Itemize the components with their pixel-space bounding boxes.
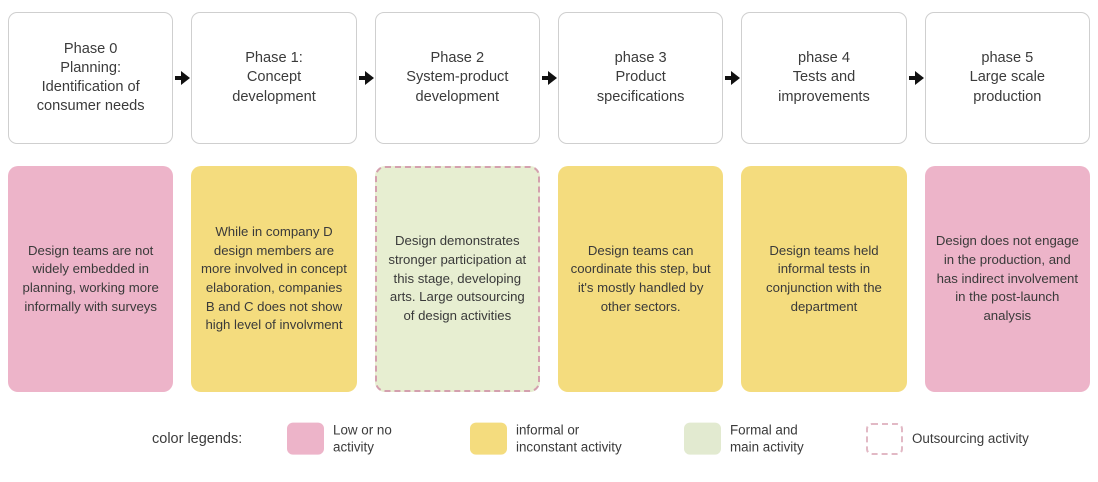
- phase-box-label-3: phase 3 Product specifications: [597, 49, 685, 107]
- phase-cell-4: phase 4 Tests and improvements: [741, 12, 924, 144]
- phase-box-label-2: Phase 2 System-product development: [406, 49, 508, 107]
- diagram-canvas: Phase 0 Planning: Identification of cons…: [0, 0, 1098, 482]
- card-cell-1: While in company D design members are mo…: [191, 166, 374, 392]
- phase-box-label-0: Phase 0 Planning: Identification of cons…: [37, 40, 145, 117]
- legend-label-0: Low or no activity: [333, 422, 392, 457]
- activity-card-text-5: Design does not engage in the production…: [934, 232, 1081, 326]
- legend-dashed-swatch-icon-3: [866, 423, 903, 455]
- legend-swatch-icon-1: [470, 423, 507, 455]
- legend-swatch-icon-0: [287, 423, 324, 455]
- phase-cell-0: Phase 0 Planning: Identification of cons…: [8, 12, 191, 144]
- activity-card-1[interactable]: While in company D design members are mo…: [191, 166, 356, 392]
- arrow-head: [915, 71, 924, 85]
- arrow-head: [548, 71, 557, 85]
- activity-card-text-2: Design demonstrates stronger participati…: [386, 232, 529, 326]
- activity-card-text-3: Design teams can coordinate this step, b…: [567, 242, 714, 317]
- phase-cell-5: phase 5 Large scale production: [925, 12, 1090, 144]
- legend-title: color legends:: [152, 431, 242, 447]
- activity-card-3[interactable]: Design teams can coordinate this step, b…: [558, 166, 723, 392]
- phase-box-3[interactable]: phase 3 Product specifications: [558, 12, 723, 144]
- legend-item-outsourcing-activity: Outsourcing activity: [866, 423, 1029, 455]
- card-cell-2: Design demonstrates stronger participati…: [375, 166, 558, 392]
- arrow-right-icon-0: [175, 71, 190, 85]
- arrow-head: [181, 71, 190, 85]
- phase-box-label-5: phase 5 Large scale production: [970, 49, 1045, 107]
- card-cell-0: Design teams are not widely embedded in …: [8, 166, 191, 392]
- phase-box-2[interactable]: Phase 2 System-product development: [375, 12, 540, 144]
- arrow-head: [731, 71, 740, 85]
- arrow-right-icon-3: [725, 71, 740, 85]
- activity-card-text-1: While in company D design members are mo…: [200, 223, 347, 335]
- activity-card-0[interactable]: Design teams are not widely embedded in …: [8, 166, 173, 392]
- legend-label-1: informal or inconstant activity: [516, 422, 622, 457]
- card-cell-3: Design teams can coordinate this step, b…: [558, 166, 741, 392]
- arrow-head: [365, 71, 374, 85]
- legend-swatch-icon-2: [684, 423, 721, 455]
- arrow-right-icon-2: [542, 71, 557, 85]
- phase-box-4[interactable]: phase 4 Tests and improvements: [741, 12, 906, 144]
- activity-card-4[interactable]: Design teams held informal tests in conj…: [741, 166, 906, 392]
- phase-box-1[interactable]: Phase 1: Concept development: [191, 12, 356, 144]
- phase-cell-3: phase 3 Product specifications: [558, 12, 741, 144]
- card-cell-4: Design teams held informal tests in conj…: [741, 166, 924, 392]
- activity-card-5[interactable]: Design does not engage in the production…: [925, 166, 1090, 392]
- phase-box-5[interactable]: phase 5 Large scale production: [925, 12, 1090, 144]
- phase-cell-2: Phase 2 System-product development: [375, 12, 558, 144]
- legend-item-informal-activity: informal or inconstant activity: [470, 422, 622, 457]
- phase-row: Phase 0 Planning: Identification of cons…: [8, 12, 1090, 144]
- legend-item-formal-activity: Formal and main activity: [684, 422, 804, 457]
- legend-label-3: Outsourcing activity: [912, 430, 1029, 447]
- card-cell-5: Design does not engage in the production…: [925, 166, 1090, 392]
- phase-box-label-1: Phase 1: Concept development: [232, 49, 316, 107]
- activity-cards-row: Design teams are not widely embedded in …: [8, 166, 1090, 392]
- activity-card-2[interactable]: Design demonstrates stronger participati…: [375, 166, 540, 392]
- color-legend: color legends: Low or no activity inform…: [0, 404, 1098, 474]
- activity-card-text-4: Design teams held informal tests in conj…: [750, 242, 897, 317]
- phase-box-label-4: phase 4 Tests and improvements: [778, 49, 870, 107]
- phase-box-0[interactable]: Phase 0 Planning: Identification of cons…: [8, 12, 173, 144]
- activity-card-text-0: Design teams are not widely embedded in …: [17, 242, 164, 317]
- legend-item-low-activity: Low or no activity: [287, 422, 392, 457]
- phase-cell-1: Phase 1: Concept development: [191, 12, 374, 144]
- arrow-right-icon-4: [909, 71, 924, 85]
- legend-label-2: Formal and main activity: [730, 422, 804, 457]
- arrow-right-icon-1: [359, 71, 374, 85]
